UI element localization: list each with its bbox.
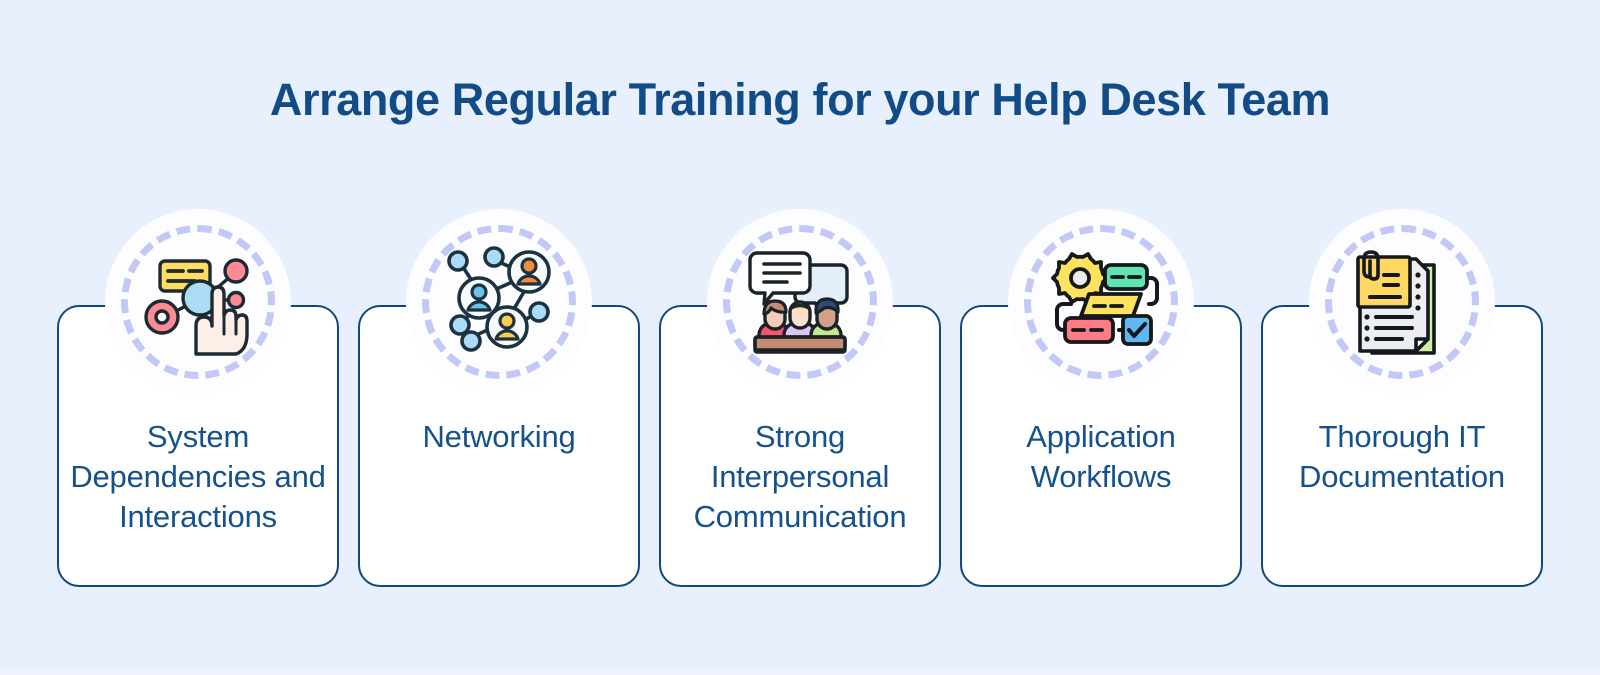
medallion-4 [1008,209,1194,395]
card-application-workflows[interactable]: Application Workflows [960,305,1242,587]
bottom-edge-strip [0,668,1600,675]
team-meeting-speech-bubbles-icon [707,209,893,395]
card-label: Application Workflows [966,417,1236,497]
page-title: Arrange Regular Training for your Help D… [0,74,1600,126]
card-label: Strong Interpersonal Communication [665,417,935,537]
medallion-1 [105,209,291,395]
card-label: Thorough IT Documentation [1267,417,1537,497]
medallion-5 [1309,209,1495,395]
card-label: Networking [364,417,634,457]
medallion-2 [406,209,592,395]
card-networking[interactable]: Networking [358,305,640,587]
card-label: System Dependencies and Interactions [63,417,333,537]
card-strong-interpersonal-communication[interactable]: Strong Interpersonal Communication [659,305,941,587]
card-thorough-it-documentation[interactable]: Thorough IT Documentation [1261,305,1543,587]
people-network-graph-icon [406,209,592,395]
medallion-3 [707,209,893,395]
documents-with-paperclip-icon [1309,209,1495,395]
cards-row: System Dependencies and Interactions [57,305,1543,587]
gear-workflow-flowchart-icon [1008,209,1194,395]
network-nodes-with-pointing-hand-icon [105,209,291,395]
infographic-page: Arrange Regular Training for your Help D… [0,0,1600,675]
card-system-dependencies-and-interactions[interactable]: System Dependencies and Interactions [57,305,339,587]
